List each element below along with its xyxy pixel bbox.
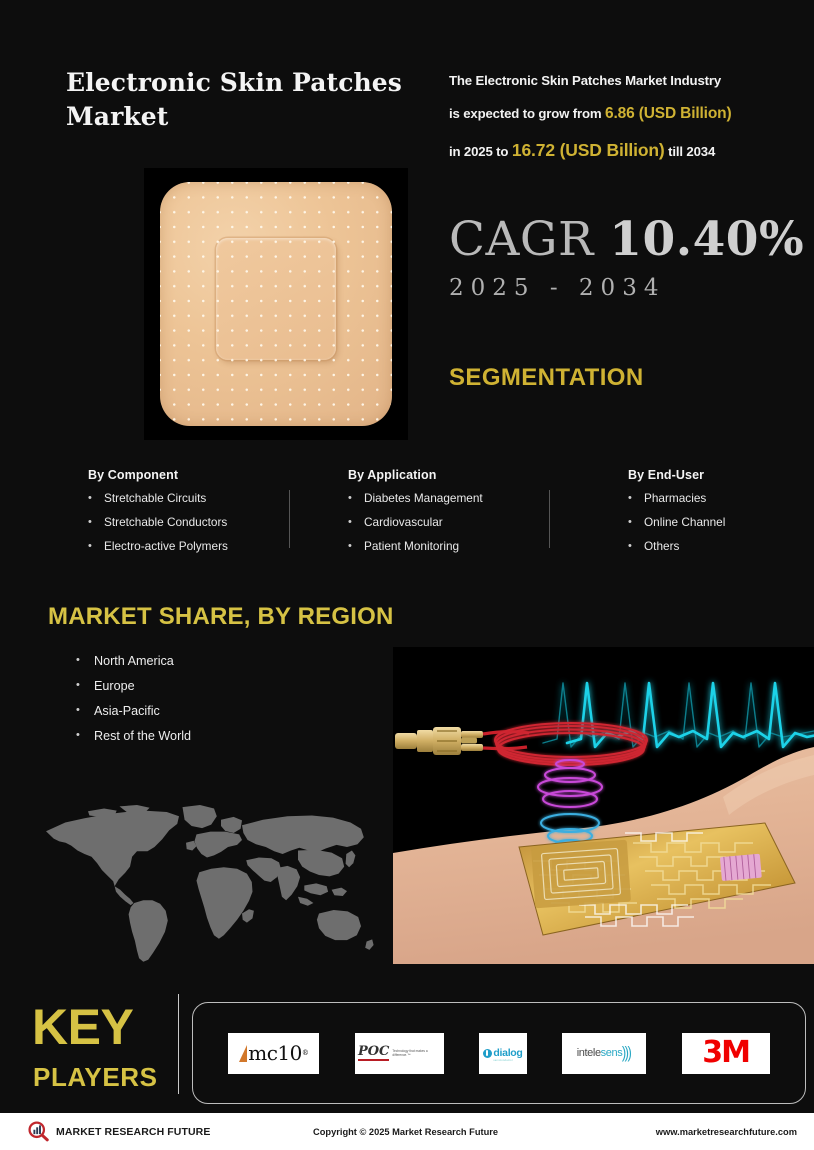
cagr-value: 10.40%	[609, 212, 804, 267]
logo-poc: POC Technology that makes a difference.™	[355, 1033, 444, 1074]
logo-3m: 3M	[682, 1033, 770, 1074]
value-2034: 16.72 (USD Billion)	[512, 140, 665, 160]
footer-brand-text: MARKET RESEARCH FUTURE	[56, 1126, 210, 1138]
segment-item-label: Cardiovascular	[364, 517, 443, 529]
bullet-icon: •	[76, 655, 94, 666]
segment-column-end-user: By End-User • Pharmacies • Online Channe…	[628, 468, 808, 564]
segmentation-heading: SEGMENTATION	[449, 364, 644, 392]
region-item-label: Asia-Pacific	[94, 705, 160, 718]
patch-body	[160, 182, 392, 426]
intelesens-wordmark: intele sens )))	[577, 1048, 632, 1059]
region-item: • Europe	[76, 680, 191, 693]
segment-item-label: Electro-active Polymers	[104, 541, 228, 553]
segment-item-label: Online Channel	[644, 517, 725, 529]
skin-patch-image	[144, 168, 408, 440]
dialog-text: dialog	[493, 1047, 522, 1059]
bullet-icon: •	[76, 680, 94, 691]
intro-line-3-suffix: till 2034	[668, 144, 715, 159]
segment-item: • Online Channel	[628, 517, 808, 529]
bullet-icon: •	[628, 517, 644, 528]
segment-item-label: Pharmacies	[644, 493, 706, 505]
intro-line-2: is expected to grow from 6.86 (USD Billi…	[449, 96, 804, 131]
3m-text: 3M	[702, 1038, 749, 1068]
bullet-icon: •	[88, 517, 104, 528]
footer-url[interactable]: www.marketresearchfuture.com	[656, 1127, 797, 1137]
segment-item: • Cardiovascular	[348, 517, 548, 529]
cagr-period: 2025 - 2034	[449, 275, 665, 301]
intro-line-3-prefix: in 2025 to	[449, 144, 508, 159]
segment-item: • Others	[628, 541, 808, 553]
segment-item-label: Others	[644, 541, 679, 553]
segment-divider	[549, 490, 550, 548]
region-item-label: Europe	[94, 680, 135, 693]
footer-brand: MARKET RESEARCH FUTURE	[28, 1121, 210, 1142]
poc-text: POC	[358, 1045, 389, 1061]
registered-mark: ®	[302, 1050, 309, 1057]
signal-waves-icon: )))	[623, 1048, 632, 1058]
segment-heading: By Application	[348, 468, 548, 482]
patch-perforations	[160, 182, 392, 426]
dialog-subtext: semiconductor	[493, 1060, 522, 1063]
intelesens-text-teal: sens	[601, 1048, 623, 1059]
electronic-skin-patch-illustration	[393, 647, 814, 964]
intro-statement: The Electronic Skin Patches Market Indus…	[449, 66, 804, 171]
segment-column-application: By Application • Diabetes Management • C…	[348, 468, 548, 564]
segment-heading: By Component	[88, 468, 288, 482]
value-2025: 6.86 (USD Billion)	[605, 105, 732, 122]
segment-item: • Stretchable Circuits	[88, 493, 288, 505]
dialog-dot-icon	[483, 1049, 492, 1058]
region-heading: MARKET SHARE, BY REGION	[48, 603, 394, 631]
key-players-title-top: KEY	[32, 1003, 133, 1052]
segment-divider	[289, 490, 290, 548]
bullet-icon: •	[628, 541, 644, 552]
region-item: • North America	[76, 655, 191, 668]
segment-item: • Stretchable Conductors	[88, 517, 288, 529]
key-players-title-bottom: PLAYERS	[33, 1062, 158, 1093]
segment-item: • Diabetes Management	[348, 493, 548, 505]
footer-bar: MARKET RESEARCH FUTURE Copyright © 2025 …	[0, 1113, 814, 1150]
region-item: • Rest of the World	[76, 730, 191, 743]
logo-mc10: mc10 ®	[228, 1033, 319, 1074]
world-map-image	[32, 798, 382, 966]
segment-item: • Pharmacies	[628, 493, 808, 505]
intro-line-3: in 2025 to 16.72 (USD Billion) till 2034	[449, 131, 804, 171]
segment-item-label: Stretchable Circuits	[104, 493, 206, 505]
bullet-icon: •	[348, 493, 364, 504]
infographic-canvas: Electronic Skin Patches Market The Elect…	[0, 0, 814, 1150]
bullet-icon: •	[628, 493, 644, 504]
key-players-divider	[178, 994, 179, 1094]
key-players-logo-box: mc10 ® POC Technology that makes a diffe…	[192, 1002, 806, 1104]
region-list: • North America • Europe • Asia-Pacific …	[76, 655, 191, 755]
bullet-icon: •	[348, 541, 364, 552]
region-item-label: North America	[94, 655, 174, 668]
bullet-icon: •	[348, 517, 364, 528]
region-item-label: Rest of the World	[94, 730, 191, 743]
cagr-block: CAGR 10.40%	[449, 216, 804, 263]
bullet-icon: •	[88, 493, 104, 504]
bullet-icon: •	[76, 705, 94, 716]
region-item: • Asia-Pacific	[76, 705, 191, 718]
poc-wordmark: POC Technology that makes a difference.™	[355, 1045, 444, 1061]
bullet-icon: •	[88, 541, 104, 552]
poc-tagline: Technology that makes a difference.™	[392, 1049, 440, 1057]
mc10-wordmark: mc10 ®	[239, 1043, 308, 1063]
logo-intelesens: intele sens )))	[562, 1033, 646, 1074]
intelesens-text-dark: intele	[577, 1048, 601, 1059]
page-title: Electronic Skin Patches Market	[66, 66, 406, 134]
segment-item: • Patient Monitoring	[348, 541, 548, 553]
mc10-triangle-icon	[239, 1045, 247, 1062]
segment-item-label: Patient Monitoring	[364, 541, 459, 553]
intro-line-2-prefix: is expected to grow from	[449, 106, 601, 121]
segment-item: • Electro-active Polymers	[88, 541, 288, 553]
dialog-wordmark: dialog semiconductor	[483, 1044, 522, 1063]
logo-dialog: dialog semiconductor	[479, 1033, 527, 1074]
segment-heading: By End-User	[628, 468, 808, 482]
footer-copyright: Copyright © 2025 Market Research Future	[313, 1127, 498, 1137]
bullet-icon: •	[76, 730, 94, 741]
mc10-text: mc10	[248, 1043, 302, 1063]
cagr-label: CAGR	[449, 212, 594, 267]
segment-column-component: By Component • Stretchable Circuits • St…	[88, 468, 288, 564]
segment-item-label: Stretchable Conductors	[104, 517, 227, 529]
intro-line-1: The Electronic Skin Patches Market Indus…	[449, 66, 804, 96]
magnifier-chart-icon	[28, 1121, 49, 1142]
segment-item-label: Diabetes Management	[364, 493, 483, 505]
